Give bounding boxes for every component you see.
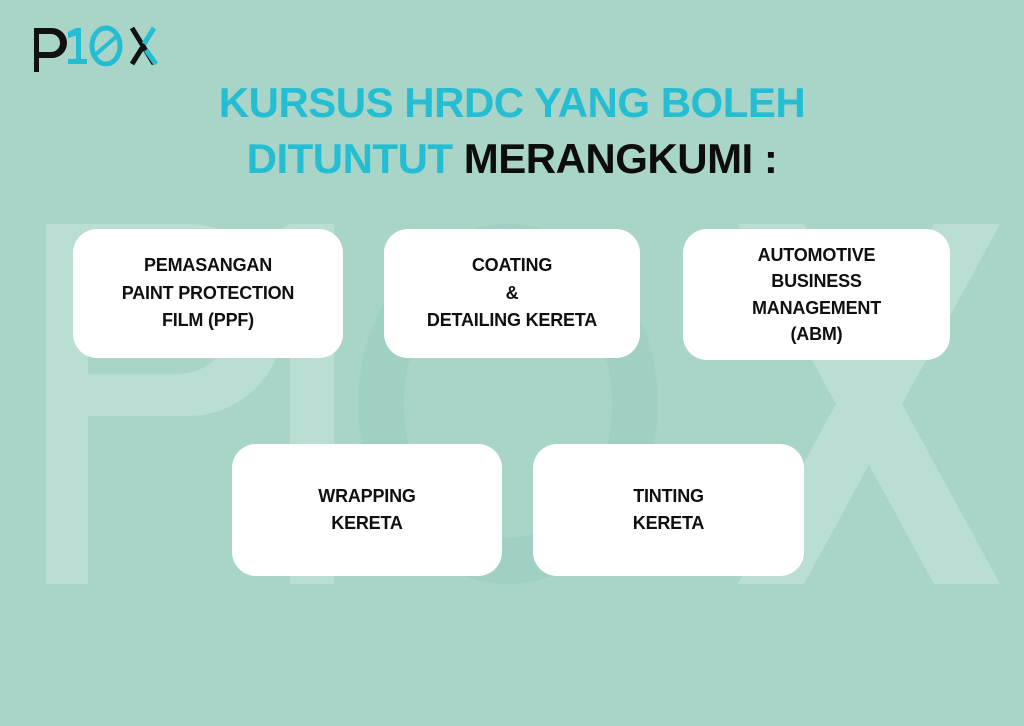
course-card-tinting-kereta[interactable]: TINTING KERETA <box>533 444 804 576</box>
title-line-1-text: KURSUS HRDC YANG BOLEH <box>219 79 805 126</box>
title-line-1: KURSUS HRDC YANG BOLEH <box>0 82 1024 138</box>
course-card-line: COATING <box>427 252 597 279</box>
course-card-line: TINTING <box>633 483 704 510</box>
course-card-line: KERETA <box>318 510 415 537</box>
logo-letter-0 <box>92 28 120 64</box>
course-card-line: MANAGEMENT <box>752 295 881 321</box>
course-card-line: WRAPPING <box>318 483 415 510</box>
course-card-automotive-business-management[interactable]: AUTOMOTIVE BUSINESS MANAGEMENT (ABM) <box>683 229 950 360</box>
course-card-label: AUTOMOTIVE BUSINESS MANAGEMENT (ABM) <box>742 242 891 347</box>
course-card-label: WRAPPING KERETA <box>308 483 425 538</box>
course-card-line: PEMASANGAN <box>122 252 294 279</box>
logo-letter-1 <box>68 28 87 64</box>
title-line-2-rest: MERANGKUMI : <box>464 135 778 182</box>
course-card-pemasangan-ppf[interactable]: PEMASANGAN PAINT PROTECTION FILM (PPF) <box>73 229 343 358</box>
course-card-wrapping-kereta[interactable]: WRAPPING KERETA <box>232 444 502 576</box>
course-card-coating-detailing[interactable]: COATING & DETAILING KERETA <box>384 229 640 358</box>
course-card-line: BUSINESS <box>752 268 881 294</box>
course-card-label: TINTING KERETA <box>623 483 714 538</box>
course-card-line: & <box>427 280 597 307</box>
course-card-line: AUTOMOTIVE <box>752 242 881 268</box>
course-card-line: FILM (PPF) <box>122 307 294 334</box>
poster-canvas: KURSUS HRDC YANG BOLEH DITUNTUT MERANGKU… <box>0 0 1024 726</box>
title-line-2-highlight: DITUNTUT <box>247 135 453 182</box>
course-card-line: DETAILING KERETA <box>427 307 597 334</box>
title-line-2: DITUNTUT MERANGKUMI : <box>0 138 1024 194</box>
logo-letter-x <box>132 28 156 64</box>
logo-letter-p <box>34 28 67 72</box>
course-card-line: (ABM) <box>752 321 881 347</box>
logo-p10x[interactable] <box>32 22 172 78</box>
course-card-line: PAINT PROTECTION <box>122 280 294 307</box>
course-card-line: KERETA <box>633 510 704 537</box>
course-card-label: PEMASANGAN PAINT PROTECTION FILM (PPF) <box>112 252 304 334</box>
course-card-label: COATING & DETAILING KERETA <box>417 252 607 334</box>
page-title: KURSUS HRDC YANG BOLEH DITUNTUT MERANGKU… <box>0 82 1024 194</box>
